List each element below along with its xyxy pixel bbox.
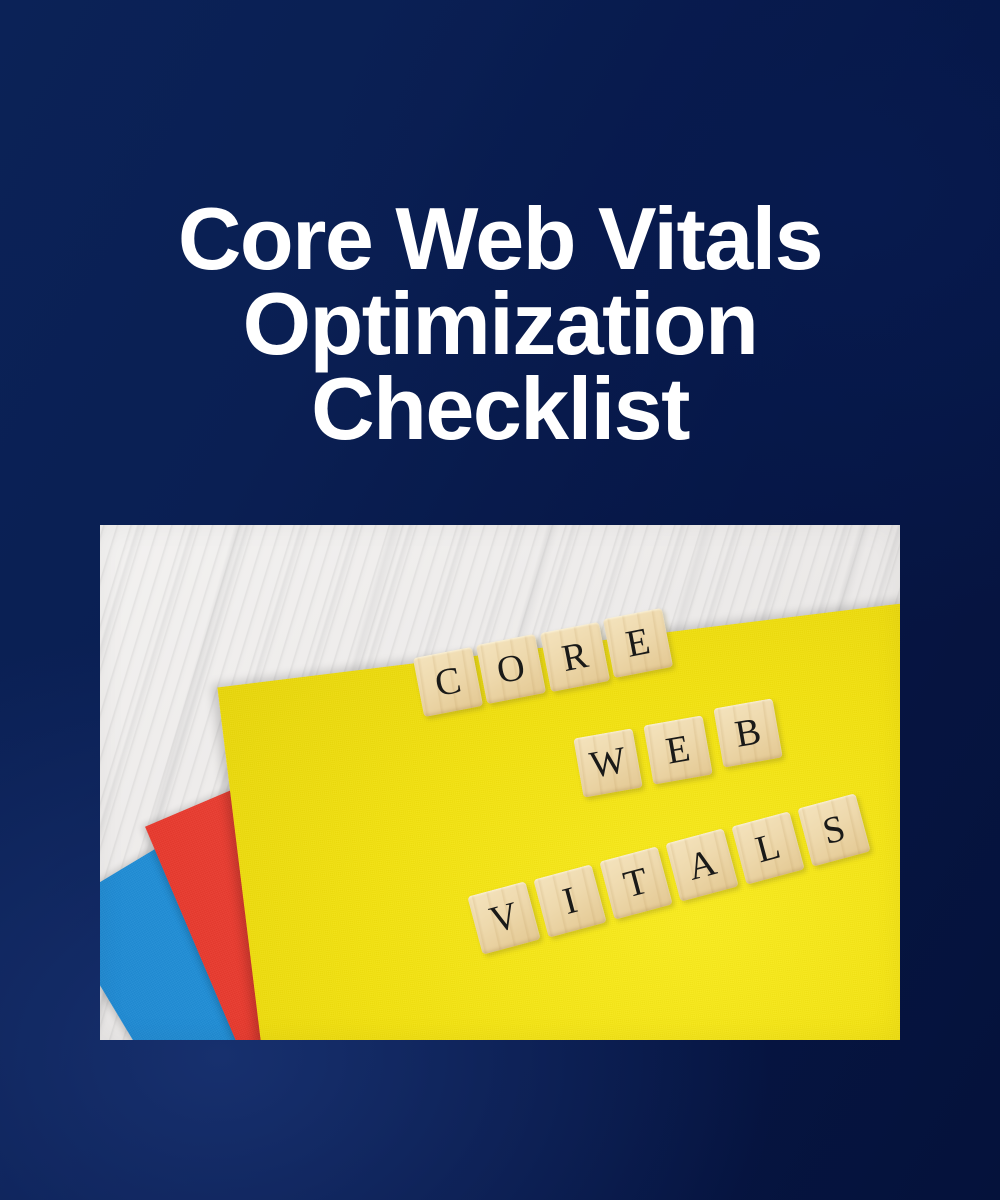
scrabble-tile-e: E <box>603 608 673 678</box>
scrabble-tile-o: O <box>476 634 546 704</box>
scrabble-tile-b: B <box>713 698 783 768</box>
poster-canvas: Core Web Vitals Optimization Checklist C… <box>0 0 1000 1200</box>
scrabble-tile-w: W <box>573 728 643 798</box>
scrabble-tile-r: R <box>540 622 610 692</box>
title-line-2: Optimization <box>0 281 1000 366</box>
hero-photo: COREWEBVITALS <box>100 525 900 1040</box>
scrabble-tile-c: C <box>413 647 483 717</box>
scrabble-tile-e: E <box>643 715 713 785</box>
title-line-3: Checklist <box>0 366 1000 451</box>
title-line-1: Core Web Vitals <box>0 196 1000 281</box>
page-title: Core Web Vitals Optimization Checklist <box>0 196 1000 451</box>
